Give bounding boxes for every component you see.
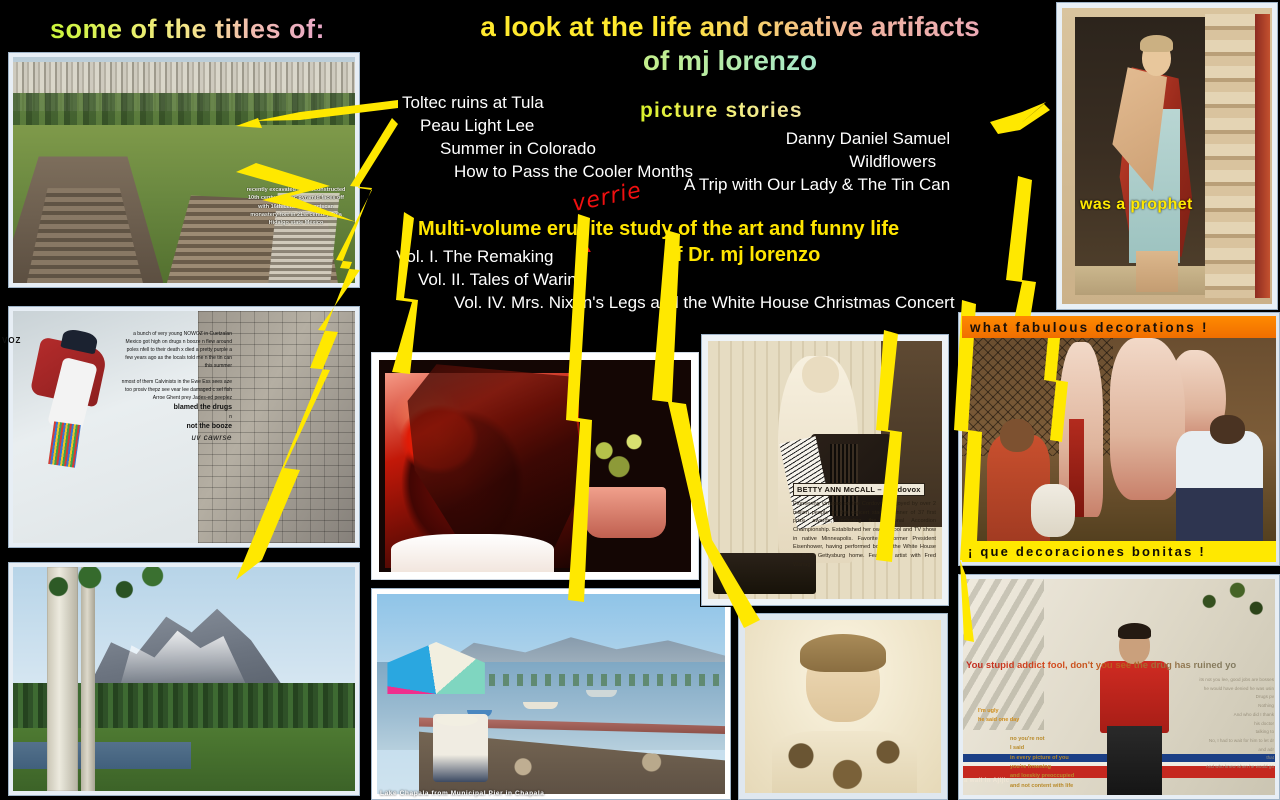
straw-hat: [436, 714, 478, 726]
photo-inner: [379, 360, 691, 572]
accordionist-head: [802, 356, 839, 392]
man-left-head: [1000, 419, 1035, 451]
red-arch-border: [1255, 14, 1270, 298]
hair: [1118, 623, 1151, 639]
seated-man-right: [1176, 431, 1264, 541]
ajijic-mural-sub-left-2: no you're not I said in every picture of…: [1010, 735, 1074, 791]
boy-hair: [800, 634, 886, 672]
poem-stanza-6: uv cawrse: [120, 432, 232, 445]
title-item: Peau Light Lee: [420, 115, 693, 138]
volume-item: Vol. I. The Remaking: [396, 246, 955, 269]
title-item: Toltec ruins at Tula: [402, 92, 693, 115]
poem-stanza-4: n: [120, 413, 232, 421]
poem-stanza-5: not the booze: [120, 421, 232, 432]
patterned-shirt: [772, 731, 917, 793]
renaissance-fresco-prophet-photo[interactable]: [1056, 2, 1278, 310]
wall-photo-left-text: VOZ: [2, 332, 44, 350]
page-title-titles-of: some of the titles of:: [50, 14, 325, 45]
poem-stanza-3: blamed the drugs: [120, 402, 232, 413]
wall-photo-voz-word: VOZ: [2, 332, 44, 350]
ajijic-mural-quote: You stupid addict fool, don't you see th…: [966, 660, 1266, 671]
red-posterized-woman-photo[interactable]: [371, 352, 699, 580]
dark-pants: [1107, 726, 1162, 795]
photo-inner: [13, 567, 355, 791]
title-item: Wildflowers: [684, 151, 950, 174]
pyramid-photo-caption: recently excavated and reconstructed 10t…: [246, 186, 346, 227]
photo-inner: [745, 620, 941, 793]
collage-canvas: some of the titles of: a look at the lif…: [0, 0, 1280, 800]
arrow-to-prophet-photo: [990, 102, 1050, 134]
title-item: Summer in Colorado: [440, 138, 693, 161]
accordion-caption-label: BETTY ANN McCALL – Cordovox: [793, 483, 925, 496]
volador-dancer: [27, 334, 130, 478]
title-item: How to Pass the Cooler Months: [454, 161, 693, 184]
butcher-scene: [962, 338, 1276, 541]
bare-legs: [1136, 251, 1178, 292]
man-right-head: [1210, 415, 1245, 443]
poem-stanza-2: nmost of them Calvinists in the Ewe Ess …: [120, 378, 232, 402]
multivolume-line1: Multi-volume erudite study of the art an…: [418, 218, 899, 240]
title-item: Danny Daniel Samuel: [684, 128, 950, 151]
photo-inner: [13, 57, 355, 283]
volume-item: Vol. II. Tales of Waring: [418, 269, 955, 292]
title-item: A Trip with Our Lady & The Tin Can: [684, 174, 950, 197]
banner-top-english: what fabulous decorations !: [962, 316, 1276, 338]
volador-ribbons: [48, 422, 80, 468]
young-boy-portrait-photo[interactable]: [738, 613, 948, 800]
poem-stanza-1: a bunch of very young NOWOZ in Cuetzalan…: [120, 330, 232, 370]
prophet-overlay-text: was a prophet: [1080, 196, 1193, 214]
ajijic-mural-sub-left-1: I'm ugly he said one day: [978, 707, 1019, 726]
page-title-main-line1: a look at the life and creative artifact…: [430, 10, 1030, 44]
butcher-shop-photo[interactable]: what fabulous decorations ! ¡ que decora…: [958, 312, 1280, 566]
alpine-lake: [13, 742, 191, 769]
red-tshirt: [1100, 661, 1169, 734]
page-title-main-line2: of mj lorenzo: [430, 44, 1030, 78]
volume-list: Vol. I. The Remaking Vol. II. Tales of W…: [396, 246, 955, 315]
fishing-boat: [586, 690, 617, 697]
overhanging-foliage: [1181, 579, 1275, 635]
wall-photo-poem: a bunch of very young NOWOZ in Cuetzalan…: [120, 330, 232, 445]
flower-pot: [585, 487, 666, 538]
volume-item: Vol. IV. Mrs. Nixon's Legs and the White…: [454, 292, 955, 315]
foreground-leaves: [27, 567, 184, 616]
water-weed-line: [447, 674, 725, 686]
toltec-pyramid-photo[interactable]: [8, 52, 360, 288]
prophet-cap: [1140, 35, 1174, 53]
title-list-left: Toltec ruins at Tula Peau Light Lee Summ…: [402, 92, 693, 184]
accordion-biography-text: Pioneering virtuoso on the Cordovox. Enj…: [793, 500, 936, 569]
tree-line: [13, 93, 355, 125]
lake-chapala-photo[interactable]: Lake Chapala from Municipal Pier in Chap…: [371, 588, 731, 800]
hanging-carcass: [1110, 338, 1185, 500]
ajijic-photo-caption: a wall in Ajijic: [964, 778, 1010, 784]
photo-inner: [377, 594, 725, 794]
fishing-boat: [523, 702, 558, 709]
title-list-right: Danny Daniel Samuel Wildflowers A Trip w…: [684, 128, 950, 197]
page-title-main: a look at the life and creative artifact…: [430, 10, 1030, 78]
banner-bottom-spanish: ¡ que decoraciones bonitas !: [962, 541, 1276, 562]
photo-inner: [1062, 8, 1272, 304]
baby-in-arms: [1031, 484, 1075, 537]
photo-inner: what fabulous decorations ! ¡ que decora…: [962, 316, 1276, 562]
standing-young-man: [1100, 614, 1169, 795]
ajijic-mural-sub-right: its not you lee, good jobs are bosses he…: [1182, 676, 1274, 772]
chapala-photo-caption: Lake Chapala from Municipal Pier in Chap…: [380, 790, 545, 797]
handwritten-annotation-verrie: verrie: [570, 178, 644, 217]
maroon-bells-colorado-photo[interactable]: [8, 562, 360, 796]
white-shirt-shoulder: [391, 534, 553, 572]
